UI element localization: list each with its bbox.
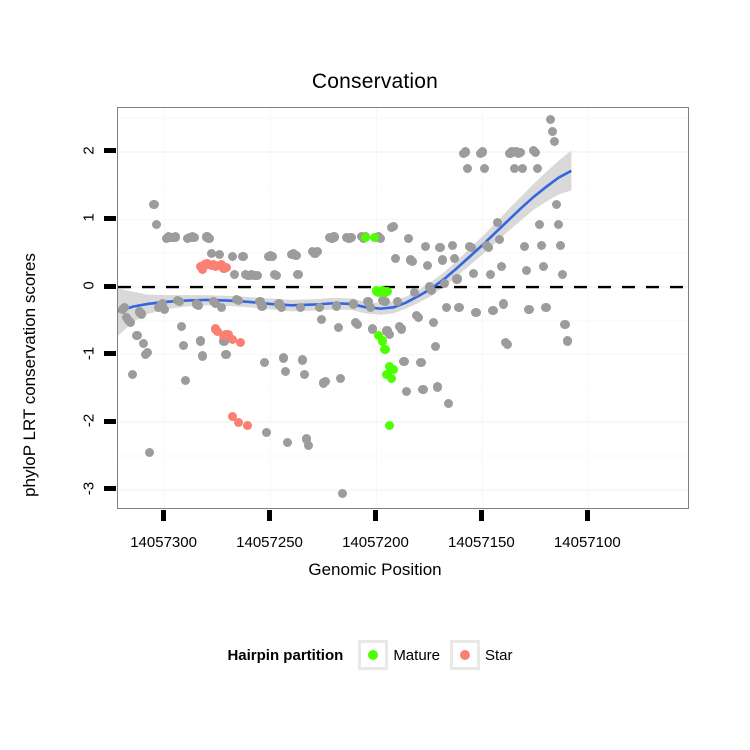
legend-dot-mature <box>368 650 378 660</box>
x-tick-label: 14057200 <box>342 534 409 551</box>
legend-dot-star <box>460 650 470 660</box>
x-tick-label: 14057300 <box>130 534 197 551</box>
y-tick-mark <box>104 419 116 424</box>
data-point-other <box>418 385 427 394</box>
data-point-mature <box>382 287 391 296</box>
legend: Hairpin partition MatureStar <box>0 640 750 670</box>
data-point-mature <box>385 421 394 430</box>
data-point-other <box>518 164 527 173</box>
x-axis-title: Genomic Position <box>0 560 750 580</box>
y-axis-title: phyloP LRT conservation scores <box>20 253 40 497</box>
data-point-other <box>296 303 305 312</box>
data-point-other <box>126 318 135 327</box>
legend-title: Hairpin partition <box>227 647 343 664</box>
data-point-other <box>541 303 550 312</box>
data-point-other <box>429 318 438 327</box>
x-tick-label: 14057100 <box>554 534 621 551</box>
legend-key-mature[interactable] <box>358 640 388 670</box>
legend-label-mature: Mature <box>393 647 440 664</box>
legend-label-star: Star <box>485 647 513 664</box>
data-point-other <box>238 252 247 261</box>
data-point-other <box>177 322 186 331</box>
data-point-other <box>440 279 449 288</box>
legend-key-star[interactable] <box>450 640 480 670</box>
legend-items: MatureStar <box>358 640 522 670</box>
data-point-other <box>353 320 362 329</box>
data-point-other <box>389 222 398 231</box>
y-tick-label: 1 <box>81 207 98 229</box>
data-point-other <box>488 306 497 315</box>
data-point-other <box>317 315 326 324</box>
data-point-other <box>404 234 413 243</box>
data-point-other <box>332 301 341 310</box>
data-point-other <box>433 382 442 391</box>
data-point-other <box>537 241 546 250</box>
data-point-other <box>471 308 480 317</box>
trend-layer <box>118 108 689 509</box>
data-point-other <box>461 147 470 156</box>
x-tick-mark <box>373 510 378 521</box>
data-point-other <box>204 234 213 243</box>
data-point-other <box>442 303 451 312</box>
chart-title: Conservation <box>0 70 750 94</box>
data-point-other <box>499 299 508 308</box>
y-tick-mark <box>104 486 116 491</box>
y-tick-label: -3 <box>81 477 98 499</box>
data-point-other <box>120 303 129 312</box>
data-point-other <box>338 489 347 498</box>
data-point-other <box>334 323 343 332</box>
data-point-star <box>234 418 243 427</box>
data-point-other <box>423 261 432 270</box>
data-point-other <box>408 257 417 266</box>
x-tick-label: 14057250 <box>236 534 303 551</box>
data-point-other <box>336 374 345 383</box>
data-point-other <box>281 367 290 376</box>
x-tick-mark <box>161 510 166 521</box>
data-point-other <box>179 341 188 350</box>
plot-panel <box>117 107 689 509</box>
y-tick-mark <box>104 216 116 221</box>
data-point-other <box>291 251 300 260</box>
data-point-star <box>243 421 252 430</box>
data-point-other <box>524 305 533 314</box>
data-point-other <box>556 241 565 250</box>
data-point-other <box>416 358 425 367</box>
data-point-other <box>279 353 288 362</box>
x-tick-label: 14057150 <box>448 534 515 551</box>
data-point-other <box>421 242 430 251</box>
data-point-other <box>171 232 180 241</box>
y-tick-label: 2 <box>81 139 98 161</box>
data-point-other <box>560 320 569 329</box>
plot-area <box>118 108 688 508</box>
x-tick-mark <box>267 510 272 521</box>
data-point-other <box>149 200 158 209</box>
data-point-other <box>137 309 146 318</box>
data-point-other <box>399 357 408 366</box>
data-point-other <box>444 399 453 408</box>
y-tick-label: -2 <box>81 410 98 432</box>
data-point-other <box>315 303 324 312</box>
data-point-other <box>548 127 557 136</box>
data-point-other <box>402 387 411 396</box>
data-point-other <box>160 305 169 314</box>
x-tick-mark <box>585 510 590 521</box>
data-point-mature <box>387 374 396 383</box>
data-point-other <box>194 301 203 310</box>
data-point-other <box>380 297 389 306</box>
y-tick-mark <box>104 284 116 289</box>
data-point-other <box>366 303 375 312</box>
data-point-other <box>435 243 444 252</box>
data-point-other <box>260 358 269 367</box>
y-tick-mark <box>104 148 116 153</box>
data-point-other <box>221 350 230 359</box>
data-point-other <box>346 233 355 242</box>
data-point-other <box>563 336 572 345</box>
x-tick-mark <box>479 510 484 521</box>
data-point-other <box>546 115 555 124</box>
data-point-other <box>257 301 266 310</box>
data-point-other <box>262 428 271 437</box>
data-point-other <box>427 286 436 295</box>
data-point-mature <box>380 345 389 354</box>
data-point-other <box>478 147 487 156</box>
data-point-other <box>198 351 207 360</box>
data-point-other <box>448 241 457 250</box>
y-tick-label: -1 <box>81 342 98 364</box>
y-tick-mark <box>104 351 116 356</box>
data-point-other <box>452 274 461 283</box>
y-tick-label: 0 <box>81 275 98 297</box>
data-point-other <box>298 355 307 364</box>
data-point-other <box>438 255 447 264</box>
data-point-other <box>397 324 406 333</box>
data-point-other <box>277 303 286 312</box>
data-point-other <box>329 232 338 241</box>
data-point-other <box>454 303 463 312</box>
data-point-other <box>349 299 358 308</box>
data-point-other <box>531 148 540 157</box>
data-point-other <box>196 336 205 345</box>
data-point-other <box>283 438 292 447</box>
data-point-star <box>221 263 230 272</box>
